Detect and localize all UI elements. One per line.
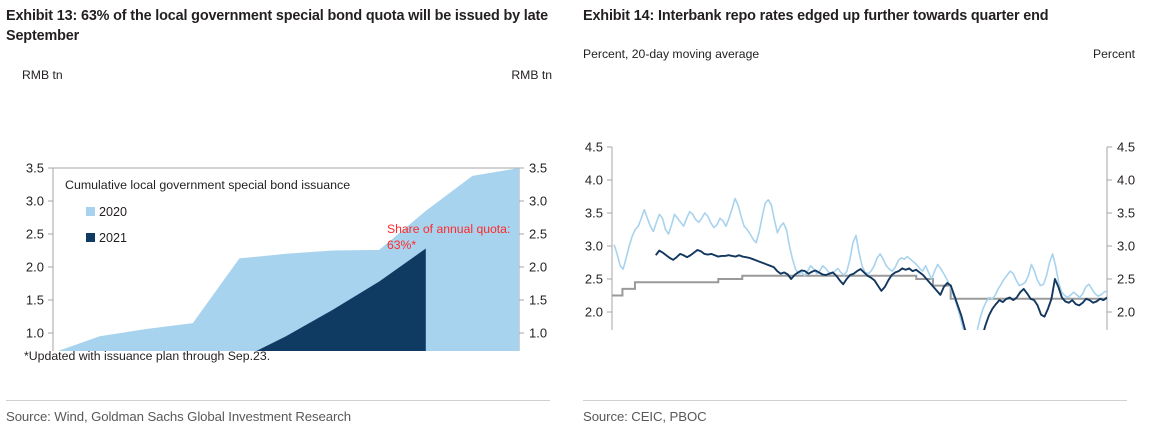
right-ytick-label-right: 3.5	[1117, 206, 1135, 221]
right-source: Source: CEIC, PBOC	[583, 409, 707, 424]
right-axis-unit-right: Percent	[1093, 47, 1136, 61]
exhibit-13-title: Exhibit 13: 63% of the local government …	[0, 0, 574, 47]
left-ytick-label-right: 1.5	[529, 292, 547, 307]
legend-label-2020: 2020	[99, 205, 127, 219]
left-legend: 2020 2021	[86, 205, 127, 245]
left-divider	[6, 400, 550, 401]
right-ytick-label: 2.0	[585, 305, 603, 320]
right-ytick-label-right: 4.5	[1117, 140, 1135, 155]
right-line-series	[612, 199, 1107, 331]
area-2020	[53, 168, 519, 351]
left-footnote: *Updated with issuance plan through Sep.…	[0, 349, 574, 363]
legend-label-2021: 2021	[99, 231, 127, 245]
left-ytick-label-right: 3.0	[529, 193, 547, 208]
right-axis-unit-left: Percent, 20-day moving average	[583, 47, 759, 61]
legend-swatch-2020	[86, 207, 95, 216]
right-plot-frame	[612, 147, 1107, 330]
left-ytick-label: 3.0	[26, 193, 44, 208]
right-ytick-label-right: 2.0	[1117, 305, 1135, 320]
right-ytick-label: 3.0	[585, 239, 603, 254]
right-y-axis-left: 1.01.52.02.53.03.54.04.5	[585, 140, 612, 331]
line-r007	[614, 199, 1107, 331]
left-ytick-label: 2.0	[26, 259, 44, 274]
exhibits-page: Exhibit 13: 63% of the local government …	[0, 0, 1149, 440]
left-ytick-label-right: 3.5	[529, 160, 547, 175]
left-ytick-label-right: 2.0	[529, 259, 547, 274]
left-ytick-label-right: 1.0	[529, 325, 547, 340]
legend-swatch-2021	[86, 233, 95, 242]
right-ytick-label: 4.0	[585, 173, 603, 188]
left-ytick-label: 1.5	[26, 292, 44, 307]
right-ytick-label: 4.5	[585, 140, 603, 155]
left-ytick-label: 1.0	[26, 325, 44, 340]
exhibit-14-title: Exhibit 14: Interbank repo rates edged u…	[575, 0, 1149, 26]
right-ytick-label: 2.5	[585, 272, 603, 287]
left-source: Source: Wind, Goldman Sachs Global Inves…	[6, 409, 351, 424]
left-axis-unit-right: RMB tn	[511, 68, 552, 82]
annotation-line-1: Share of annual quota:	[387, 222, 510, 236]
left-ytick-label-right: 2.5	[529, 226, 547, 241]
right-ytick-label-right: 4.0	[1117, 173, 1135, 188]
exhibit-13-chart: RMB tn RMB tn 0.00.00.50.51.01.01.51.52.…	[0, 61, 574, 363]
left-chart-note: Cumulative local government special bond…	[65, 178, 350, 192]
left-area-series	[53, 168, 519, 351]
right-ytick-label-right: 2.5	[1117, 272, 1135, 287]
exhibit-14-chart: Percent, 20-day moving average Percent 1…	[575, 40, 1149, 328]
annotation-line-2: 63%*	[387, 238, 416, 252]
left-chart-svg: RMB tn RMB tn 0.00.00.50.51.01.01.51.52.…	[0, 61, 574, 351]
left-ytick-label: 2.5	[26, 226, 44, 241]
right-divider	[583, 400, 1127, 401]
exhibit-14-panel: Exhibit 14: Interbank repo rates edged u…	[575, 0, 1149, 440]
left-axis-unit-left: RMB tn	[22, 68, 63, 82]
right-y-axis-right: 1.01.52.02.53.03.54.04.5	[1107, 140, 1135, 331]
left-ytick-label: 3.5	[26, 160, 44, 175]
exhibit-13-panel: Exhibit 13: 63% of the local government …	[0, 0, 574, 440]
line-dr007	[656, 250, 1107, 330]
right-ytick-label-right: 3.0	[1117, 239, 1135, 254]
right-chart-svg: Percent, 20-day moving average Percent 1…	[575, 40, 1149, 330]
line-omo-rate	[612, 276, 1107, 299]
right-ytick-label: 3.5	[585, 206, 603, 221]
